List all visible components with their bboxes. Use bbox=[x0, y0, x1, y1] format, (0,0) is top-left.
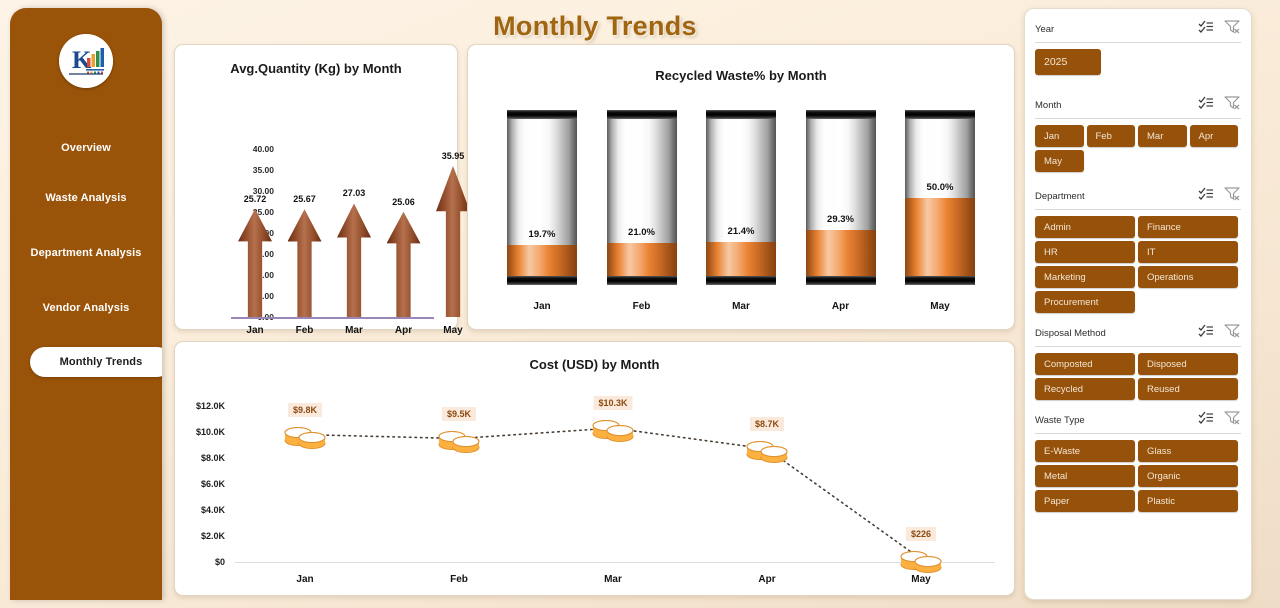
sidebar-item-vendor-analysis[interactable]: Vendor Analysis bbox=[24, 293, 148, 323]
cylinder-body bbox=[706, 110, 776, 285]
cylinder-fill bbox=[905, 198, 975, 286]
cylinder-cap-bot bbox=[706, 276, 776, 285]
clear-filter-icon[interactable] bbox=[1224, 186, 1241, 206]
slicer-options: JanFebMarAprMay bbox=[1035, 125, 1241, 172]
gauge-value-label: 29.3% bbox=[827, 214, 854, 225]
slicer-options: CompostedDisposedRecycledReused bbox=[1035, 353, 1241, 400]
x-axis-label: Feb bbox=[633, 301, 651, 312]
multi-select-icon bbox=[1198, 324, 1214, 338]
clear-filter-icon[interactable] bbox=[1224, 410, 1241, 430]
slicer-options: 2025 bbox=[1035, 49, 1241, 75]
bar-value-label: 27.03 bbox=[343, 188, 366, 198]
data-value-badge: $226 bbox=[906, 527, 936, 541]
cylinder-cap-top bbox=[706, 110, 776, 119]
sidebar-item-waste-analysis[interactable]: Waste Analysis bbox=[24, 183, 148, 213]
slicer-divider bbox=[1035, 118, 1241, 119]
page-title: Monthly Trends bbox=[170, 11, 1020, 42]
slicer-icon-group bbox=[1198, 323, 1241, 343]
arrow-bar[interactable]: 27.03 bbox=[336, 203, 372, 317]
x-axis-label: Jan bbox=[533, 301, 550, 312]
filter-panel: Year 2025Month JanFebMarAprMayDepartment bbox=[1024, 8, 1252, 600]
multi-select-icon[interactable] bbox=[1198, 411, 1214, 430]
sidebar-item-label: Monthly Trends bbox=[60, 356, 143, 368]
slicer-option[interactable]: Plastic bbox=[1138, 490, 1238, 512]
slicer-department: Department AdminFinanceHRITMarketingOper… bbox=[1035, 186, 1241, 313]
cost-trend-line bbox=[175, 342, 1016, 597]
sidebar: K Overview Waste Analysis Department Ana… bbox=[10, 8, 162, 600]
slicer-icon-group bbox=[1198, 95, 1241, 115]
slicer-option[interactable]: Procurement bbox=[1035, 291, 1135, 313]
multi-select-icon[interactable] bbox=[1198, 187, 1214, 206]
x-axis-label: Feb bbox=[296, 325, 314, 336]
cylinder-cap-bot bbox=[507, 276, 577, 285]
cylinder-gauge[interactable]: 50.0% bbox=[905, 110, 975, 285]
multi-select-icon[interactable] bbox=[1198, 324, 1214, 343]
slicer-title: Disposal Method bbox=[1035, 328, 1106, 339]
clear-filter-icon[interactable] bbox=[1224, 19, 1241, 39]
arrow-bar[interactable]: 25.67 bbox=[287, 209, 323, 317]
recycled-waste-plot: 19.7%Jan21.0%Feb21.4%Mar29.3%Apr50.0%May bbox=[468, 45, 1016, 331]
slicer-icon-group bbox=[1198, 19, 1241, 39]
slicer-option[interactable]: E-Waste bbox=[1035, 440, 1135, 462]
slicer-option[interactable]: Disposed bbox=[1138, 353, 1238, 375]
y-axis-tick: 35.00 bbox=[230, 165, 274, 175]
x-axis-label: May bbox=[443, 325, 462, 336]
cylinder-cap-bot bbox=[905, 276, 975, 285]
data-value-badge: $8.7K bbox=[750, 417, 784, 431]
slicer-divider bbox=[1035, 209, 1241, 210]
slicer-divider bbox=[1035, 42, 1241, 43]
slicer-option[interactable]: May bbox=[1035, 150, 1084, 172]
cost-plot: $12.0K$10.0K$8.0K$6.0K$4.0K$2.0K$0 $9.8K… bbox=[175, 342, 1016, 597]
slicer-option[interactable]: IT bbox=[1138, 241, 1238, 263]
sidebar-item-monthly-trends[interactable]: Monthly Trends bbox=[30, 347, 162, 377]
slicer-header: Disposal Method bbox=[1035, 323, 1241, 346]
slicer-option[interactable]: Feb bbox=[1087, 125, 1136, 147]
clear-filter-icon[interactable] bbox=[1224, 95, 1241, 115]
x-axis-label: May bbox=[911, 574, 930, 585]
slicer-option[interactable]: Jan bbox=[1035, 125, 1084, 147]
data-value-badge: $10.3K bbox=[593, 396, 632, 410]
chart-card-recycled-waste: Recycled Waste% by Month 19.7%Jan21.0%Fe… bbox=[467, 44, 1015, 330]
slicer-title: Year bbox=[1035, 24, 1054, 35]
slicer-title: Month bbox=[1035, 100, 1061, 111]
gauge-value-label: 21.0% bbox=[628, 227, 655, 238]
slicer-option[interactable]: Metal bbox=[1035, 465, 1135, 487]
chart-card-avg-quantity: Avg.Quantity (Kg) by Month 40.0035.0030.… bbox=[174, 44, 458, 330]
clear-filter-icon[interactable] bbox=[1224, 323, 1241, 343]
sidebar-item-label: Overview bbox=[61, 142, 111, 154]
arrow-shape bbox=[238, 209, 272, 317]
x-axis-line bbox=[231, 317, 434, 319]
slicer-option[interactable]: Finance bbox=[1138, 216, 1238, 238]
slicer-icon-group bbox=[1198, 410, 1241, 430]
slicer-option[interactable]: Recycled bbox=[1035, 378, 1135, 400]
multi-select-icon bbox=[1198, 96, 1214, 110]
x-axis-label: Mar bbox=[345, 325, 363, 336]
sidebar-item-department-analysis[interactable]: Department Analysis bbox=[24, 238, 148, 268]
x-axis-label: Jan bbox=[296, 574, 313, 585]
chart-card-cost: Cost (USD) by Month $12.0K$10.0K$8.0K$6.… bbox=[174, 341, 1015, 596]
slicer-month: Month JanFebMarAprMay bbox=[1035, 95, 1241, 172]
slicer-option[interactable]: HR bbox=[1035, 241, 1135, 263]
data-value-badge: $9.5K bbox=[442, 407, 476, 421]
slicer-option[interactable]: Organic bbox=[1138, 465, 1238, 487]
slicer-option[interactable]: Operations bbox=[1138, 266, 1238, 288]
sidebar-item-label: Department Analysis bbox=[31, 247, 142, 259]
arrow-shape bbox=[436, 166, 470, 317]
slicer-divider bbox=[1035, 346, 1241, 347]
multi-select-icon bbox=[1198, 20, 1214, 34]
gauge-value-label: 50.0% bbox=[927, 182, 954, 193]
multi-select-icon[interactable] bbox=[1198, 96, 1214, 115]
x-axis-label: May bbox=[930, 301, 949, 312]
slicer-options: E-WasteGlassMetalOrganicPaperPlastic bbox=[1035, 440, 1241, 512]
y-axis-tick: 40.00 bbox=[230, 144, 274, 154]
cylinder-body bbox=[905, 110, 975, 285]
cylinder-gauge[interactable]: 29.3% bbox=[806, 110, 876, 285]
slicer-header: Department bbox=[1035, 186, 1241, 209]
data-value-badge: $9.8K bbox=[288, 403, 322, 417]
multi-select-icon[interactable] bbox=[1198, 20, 1214, 39]
x-axis-label: Feb bbox=[450, 574, 468, 585]
x-axis-label: Apr bbox=[758, 574, 775, 585]
arrow-shape bbox=[387, 212, 421, 317]
arrow-bar[interactable]: 25.72 bbox=[237, 209, 273, 317]
coin-stack-marker[interactable] bbox=[744, 428, 790, 469]
arrow-bar[interactable]: 35.95 bbox=[435, 166, 471, 317]
bar-value-label: 25.06 bbox=[392, 197, 415, 207]
slicer-option[interactable]: Paper bbox=[1035, 490, 1135, 512]
bar-value-label: 35.95 bbox=[442, 151, 465, 161]
slicer-option[interactable]: Admin bbox=[1035, 216, 1135, 238]
clear-filter-icon bbox=[1224, 323, 1241, 338]
x-axis-label: Jan bbox=[246, 325, 263, 336]
slicer-year: Year 2025 bbox=[1035, 19, 1241, 75]
slicer-option[interactable]: Reused bbox=[1138, 378, 1238, 400]
multi-select-icon bbox=[1198, 187, 1214, 201]
cylinder-cap-bot bbox=[806, 276, 876, 285]
slicer-disposal-method: Disposal Method CompostedDisposedRecycle… bbox=[1035, 323, 1241, 400]
sidebar-item-overview[interactable]: Overview bbox=[24, 133, 148, 163]
arrow-shape bbox=[337, 203, 371, 317]
cylinder-cap-top bbox=[806, 110, 876, 119]
x-axis-label: Mar bbox=[732, 301, 750, 312]
company-logo: K bbox=[59, 34, 113, 88]
slicer-option[interactable]: Glass bbox=[1138, 440, 1238, 462]
slicer-option[interactable]: Marketing bbox=[1035, 266, 1135, 288]
slicer-option[interactable]: Mar bbox=[1138, 125, 1187, 147]
bar-value-label: 25.72 bbox=[244, 194, 267, 204]
coin-stack-marker[interactable] bbox=[282, 414, 328, 455]
slicer-option[interactable]: Apr bbox=[1190, 125, 1239, 147]
sidebar-item-label: Waste Analysis bbox=[45, 192, 126, 204]
multi-select-icon bbox=[1198, 411, 1214, 425]
avg-quantity-plot: 40.0035.0030.0025.0020.0015.0010.005.000… bbox=[175, 45, 459, 331]
cylinder-body bbox=[507, 110, 577, 285]
arrow-shape bbox=[288, 209, 322, 317]
cylinder-gauge[interactable]: 21.0% bbox=[607, 110, 677, 285]
slicer-header: Waste Type bbox=[1035, 410, 1241, 433]
arrow-bar[interactable]: 25.06 bbox=[386, 212, 422, 317]
coin-stack-marker[interactable] bbox=[590, 408, 636, 449]
coin-stack-marker[interactable] bbox=[436, 418, 482, 459]
gauge-value-label: 19.7% bbox=[529, 229, 556, 240]
cylinder-body bbox=[607, 110, 677, 285]
cylinder-gauge[interactable]: 21.4% bbox=[706, 110, 776, 285]
slicer-title: Department bbox=[1035, 191, 1085, 202]
x-axis-label: Apr bbox=[395, 325, 412, 336]
sidebar-item-label: Vendor Analysis bbox=[43, 302, 130, 314]
slicer-waste-type: Waste Type E-WasteGlassMetalOrganicPaper… bbox=[1035, 410, 1241, 512]
cylinder-cap-top bbox=[607, 110, 677, 119]
cylinder-cap-top bbox=[905, 110, 975, 119]
bar-value-label: 25.67 bbox=[293, 194, 316, 204]
clear-filter-icon bbox=[1224, 19, 1241, 34]
slicer-header: Month bbox=[1035, 95, 1241, 118]
slicer-option[interactable]: 2025 bbox=[1035, 49, 1101, 75]
x-axis-label: Mar bbox=[604, 574, 622, 585]
slicer-divider bbox=[1035, 433, 1241, 434]
clear-filter-icon bbox=[1224, 186, 1241, 201]
cylinder-body bbox=[806, 110, 876, 285]
slicer-options: AdminFinanceHRITMarketingOperationsProcu… bbox=[1035, 216, 1241, 313]
slicer-header: Year bbox=[1035, 19, 1241, 42]
slicer-option[interactable]: Composted bbox=[1035, 353, 1135, 375]
cylinder-gauge[interactable]: 19.7% bbox=[507, 110, 577, 285]
clear-filter-icon bbox=[1224, 410, 1241, 425]
cylinder-cap-top bbox=[507, 110, 577, 119]
cylinder-cap-bot bbox=[607, 276, 677, 285]
clear-filter-icon bbox=[1224, 95, 1241, 110]
slicer-title: Waste Type bbox=[1035, 415, 1085, 426]
gauge-value-label: 21.4% bbox=[728, 226, 755, 237]
x-axis-label: Apr bbox=[832, 301, 849, 312]
slicer-icon-group bbox=[1198, 186, 1241, 206]
